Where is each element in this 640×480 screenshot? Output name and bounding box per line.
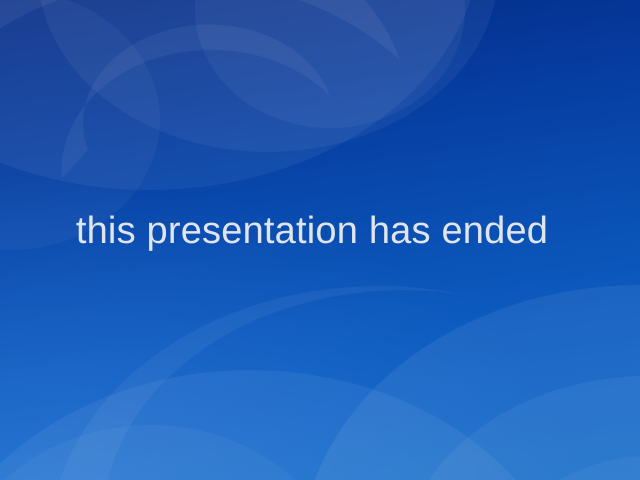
presentation-end-slide: this presentation has ended (0, 0, 640, 480)
headline-container: this presentation has ended (0, 0, 640, 480)
page-title: this presentation has ended (76, 212, 548, 252)
